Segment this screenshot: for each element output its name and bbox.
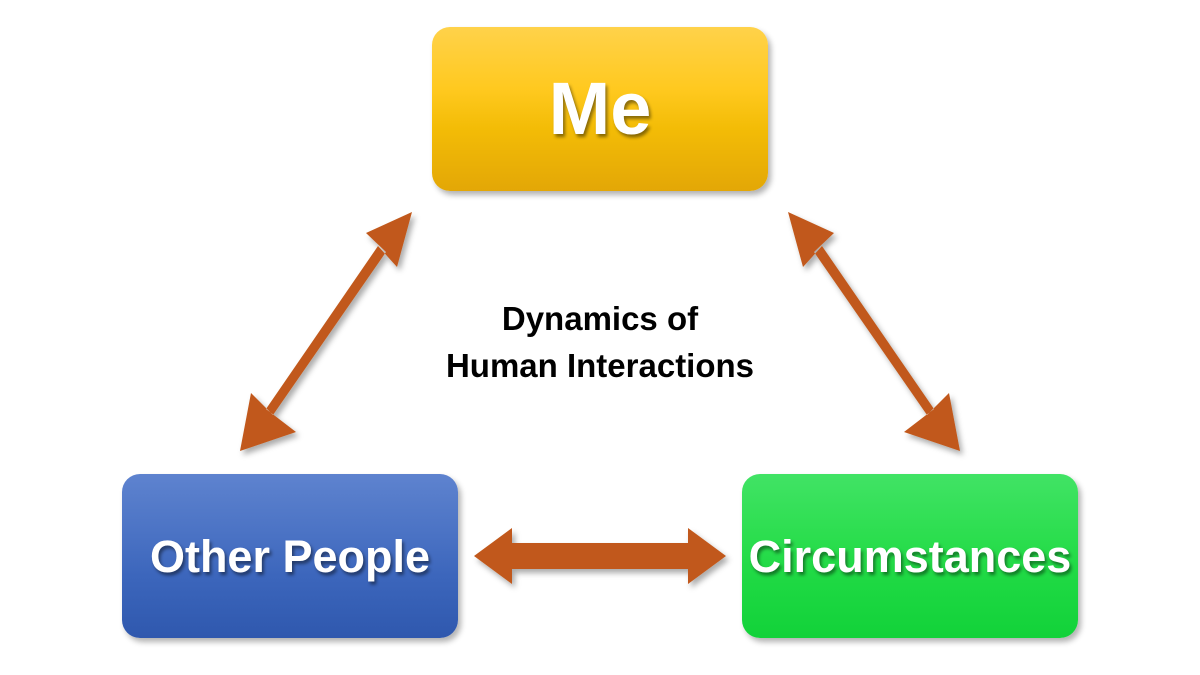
center-caption-line-2: Human Interactions bbox=[0, 343, 1200, 390]
dynamics-of-human-interactions-diagram: Me Other People Circumstances Dynamics o… bbox=[0, 0, 1200, 675]
center-caption-line-1: Dynamics of bbox=[0, 296, 1200, 343]
node-me[interactable]: Me bbox=[432, 27, 768, 191]
node-other-people-label: Other People bbox=[150, 534, 430, 579]
arrow-me-circumstances bbox=[788, 212, 960, 451]
arrow-other-people-circumstances bbox=[474, 528, 726, 584]
node-me-label: Me bbox=[549, 72, 652, 146]
node-circumstances[interactable]: Circumstances bbox=[742, 474, 1078, 638]
center-caption: Dynamics of Human Interactions bbox=[0, 296, 1200, 390]
arrow-me-other-people bbox=[240, 212, 412, 451]
node-circumstances-label: Circumstances bbox=[749, 534, 1072, 579]
node-other-people[interactable]: Other People bbox=[122, 474, 458, 638]
